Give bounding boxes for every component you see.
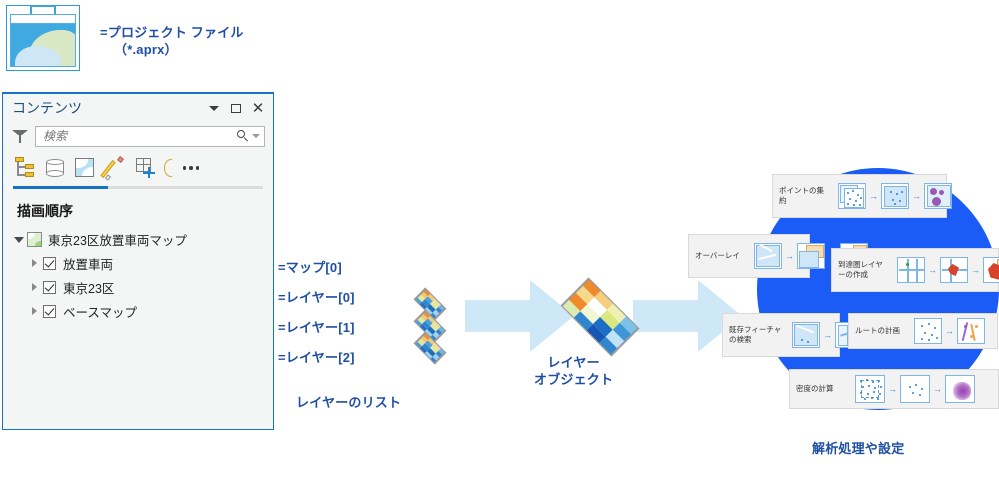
- card-plan-routes[interactable]: ルートの計画 →: [848, 313, 998, 349]
- panel-titlebar: コンテンツ ✕: [3, 94, 273, 122]
- card-calculate-density[interactable]: 密度の計算 → →: [789, 369, 999, 409]
- thumb-dense-points: [855, 375, 885, 403]
- chain-arrow-icon: →: [933, 385, 942, 394]
- annotation-layer2: =レイヤー[2]: [278, 349, 355, 366]
- card-thumbnails: → →: [855, 375, 975, 403]
- card-service-area[interactable]: 到達圏レイヤ ーの作成 → →: [831, 248, 999, 292]
- map-icon: [27, 232, 42, 247]
- chain-arrow-icon: →: [823, 331, 832, 340]
- chain-arrow-icon: →: [971, 266, 980, 275]
- thumb-density-raster: [945, 375, 975, 403]
- card-label: 既存フィーチャの検索: [729, 325, 787, 345]
- thumb-points: [838, 183, 866, 209]
- card-overlay[interactable]: オーバーレイ → →: [688, 234, 810, 278]
- tree-map-label: 東京23区放置車両マップ: [48, 230, 187, 249]
- list-by-selection-icon[interactable]: [73, 156, 97, 180]
- thumb-stops: [914, 318, 942, 344]
- thumb-overlay-stack: [797, 243, 825, 269]
- project-annotation-line1: =プロジェクト ファイル: [100, 24, 244, 41]
- table-row[interactable]: ベースマップ: [3, 299, 273, 323]
- list-by-labeling-icon[interactable]: [163, 156, 172, 180]
- project-file-briefcase-icon: [6, 5, 80, 71]
- thumb-network: [897, 257, 925, 283]
- chain-arrow-icon: →: [869, 192, 878, 201]
- list-item: ベースマップ: [63, 302, 137, 321]
- search-magnifier-icon[interactable]: [237, 130, 250, 143]
- toolbar-scrollbar[interactable]: [13, 186, 263, 189]
- page-title: コンテンツ: [12, 98, 203, 118]
- search-box[interactable]: [35, 126, 265, 147]
- annotation-map0: =マップ[0]: [278, 259, 342, 276]
- card-thumbnails: →: [914, 318, 985, 344]
- project-annotation-line2: （*.aprx）: [100, 41, 244, 58]
- search-input[interactable]: [43, 129, 237, 143]
- layer-object-line1: レイヤー: [534, 354, 613, 371]
- list-by-drawing-order-icon[interactable]: [13, 156, 37, 180]
- expand-triangle-icon[interactable]: [29, 306, 40, 317]
- more-options-icon[interactable]: [178, 156, 204, 180]
- raster-layer-icon: [415, 333, 445, 363]
- annotation-layer0: =レイヤー[0]: [278, 289, 355, 306]
- filter-funnel-icon[interactable]: [11, 127, 29, 145]
- chain-arrow-icon: →: [912, 192, 921, 201]
- card-thumbnails: → →: [838, 183, 952, 209]
- list-by-snapping-icon[interactable]: [133, 156, 157, 180]
- annotation-layer-object: レイヤー オブジェクト: [534, 354, 613, 388]
- thumb-features: [792, 322, 820, 348]
- thumb-aggregated: [924, 183, 952, 209]
- layer-visibility-checkbox[interactable]: [43, 257, 56, 270]
- panel-toolbar: [3, 150, 273, 184]
- annotation-layer1: =レイヤー[1]: [278, 319, 355, 336]
- briefcase-lip: [11, 15, 75, 24]
- chain-arrow-icon: →: [888, 385, 897, 394]
- chain-arrow-icon: →: [945, 327, 954, 336]
- thumb-map: [754, 243, 782, 269]
- thumb-service-area-partial: [940, 257, 968, 283]
- expand-triangle-icon[interactable]: [29, 282, 40, 293]
- project-file-annotation: =プロジェクト ファイル （*.aprx）: [100, 24, 244, 58]
- flow-arrow-right: [464, 280, 574, 352]
- expand-triangle-icon[interactable]: [29, 258, 40, 269]
- thumb-service-area: [983, 257, 999, 283]
- panel-maximize-icon[interactable]: [225, 98, 247, 118]
- card-label: 密度の計算: [796, 384, 850, 394]
- layer-object-icon: [564, 281, 636, 353]
- contents-panel: コンテンツ ✕: [2, 92, 274, 430]
- table-row[interactable]: 東京23区: [3, 275, 273, 299]
- panel-close-icon[interactable]: ✕: [247, 98, 269, 118]
- card-label: 到達圏レイヤ ーの作成: [838, 260, 892, 280]
- list-item: 放置車両: [63, 254, 113, 273]
- card-label: ルートの計画: [855, 326, 909, 336]
- thumb-routes: [957, 318, 985, 344]
- card-aggregate-points[interactable]: ポイントの集 約 → →: [772, 174, 947, 218]
- tree-heading: 描画順序: [17, 201, 273, 221]
- panel-menu-caret-icon[interactable]: [203, 98, 225, 118]
- layer-visibility-checkbox[interactable]: [43, 305, 56, 318]
- thumb-polygons: [881, 183, 909, 209]
- tree-row-map[interactable]: 東京23区放置車両マップ: [3, 227, 273, 251]
- card-thumbnails: → →: [897, 257, 999, 283]
- expand-triangle-icon[interactable]: [13, 234, 24, 245]
- layer-object-line2: オブジェクト: [534, 371, 613, 388]
- chevron-down-icon[interactable]: [252, 134, 260, 138]
- search-row: [3, 122, 273, 150]
- card-label: オーバーレイ: [695, 251, 749, 261]
- thumb-sparse-points: [900, 375, 930, 403]
- layer-visibility-checkbox[interactable]: [43, 281, 56, 294]
- annotation-layer-list: レイヤーのリスト: [296, 394, 401, 411]
- list-item: 東京23区: [63, 278, 114, 297]
- list-by-data-source-icon[interactable]: [43, 156, 67, 180]
- chain-arrow-icon: →: [785, 252, 794, 261]
- chain-arrow-icon: →: [928, 266, 937, 275]
- card-label: ポイントの集 約: [779, 186, 833, 206]
- table-row[interactable]: 放置車両: [3, 251, 273, 275]
- briefcase-handle-icon: [30, 5, 56, 14]
- annotation-analysis: 解析処理や設定: [812, 440, 904, 457]
- map-water: [11, 24, 75, 66]
- briefcase-body: [10, 14, 76, 67]
- card-find-existing-features[interactable]: 既存フィーチャの検索 → →: [722, 313, 840, 357]
- list-by-editing-icon[interactable]: [103, 156, 127, 180]
